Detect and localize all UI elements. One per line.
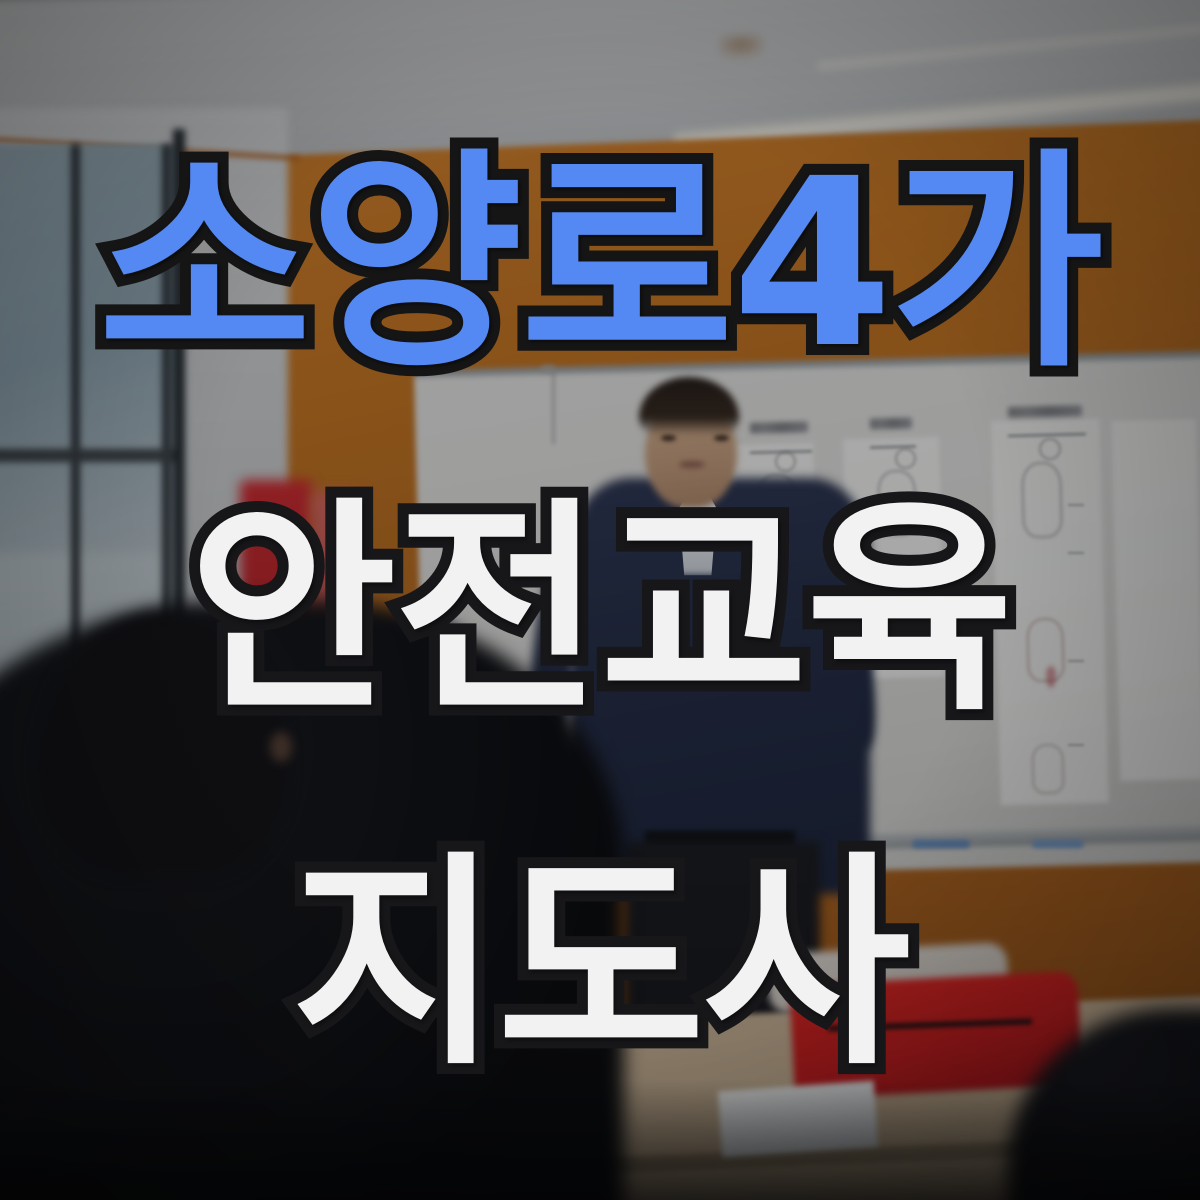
headline-overlay: 소양로4가 안전교육 지도사 [0,0,1200,1200]
headline-line-1: 소양로4가 [0,148,1200,380]
poster-canvas: 소양로4가 안전교육 지도사 [0,0,1200,1200]
headline-line-3: 지도사 [0,852,1200,1078]
headline-line-2: 안전교육 [0,498,1200,724]
